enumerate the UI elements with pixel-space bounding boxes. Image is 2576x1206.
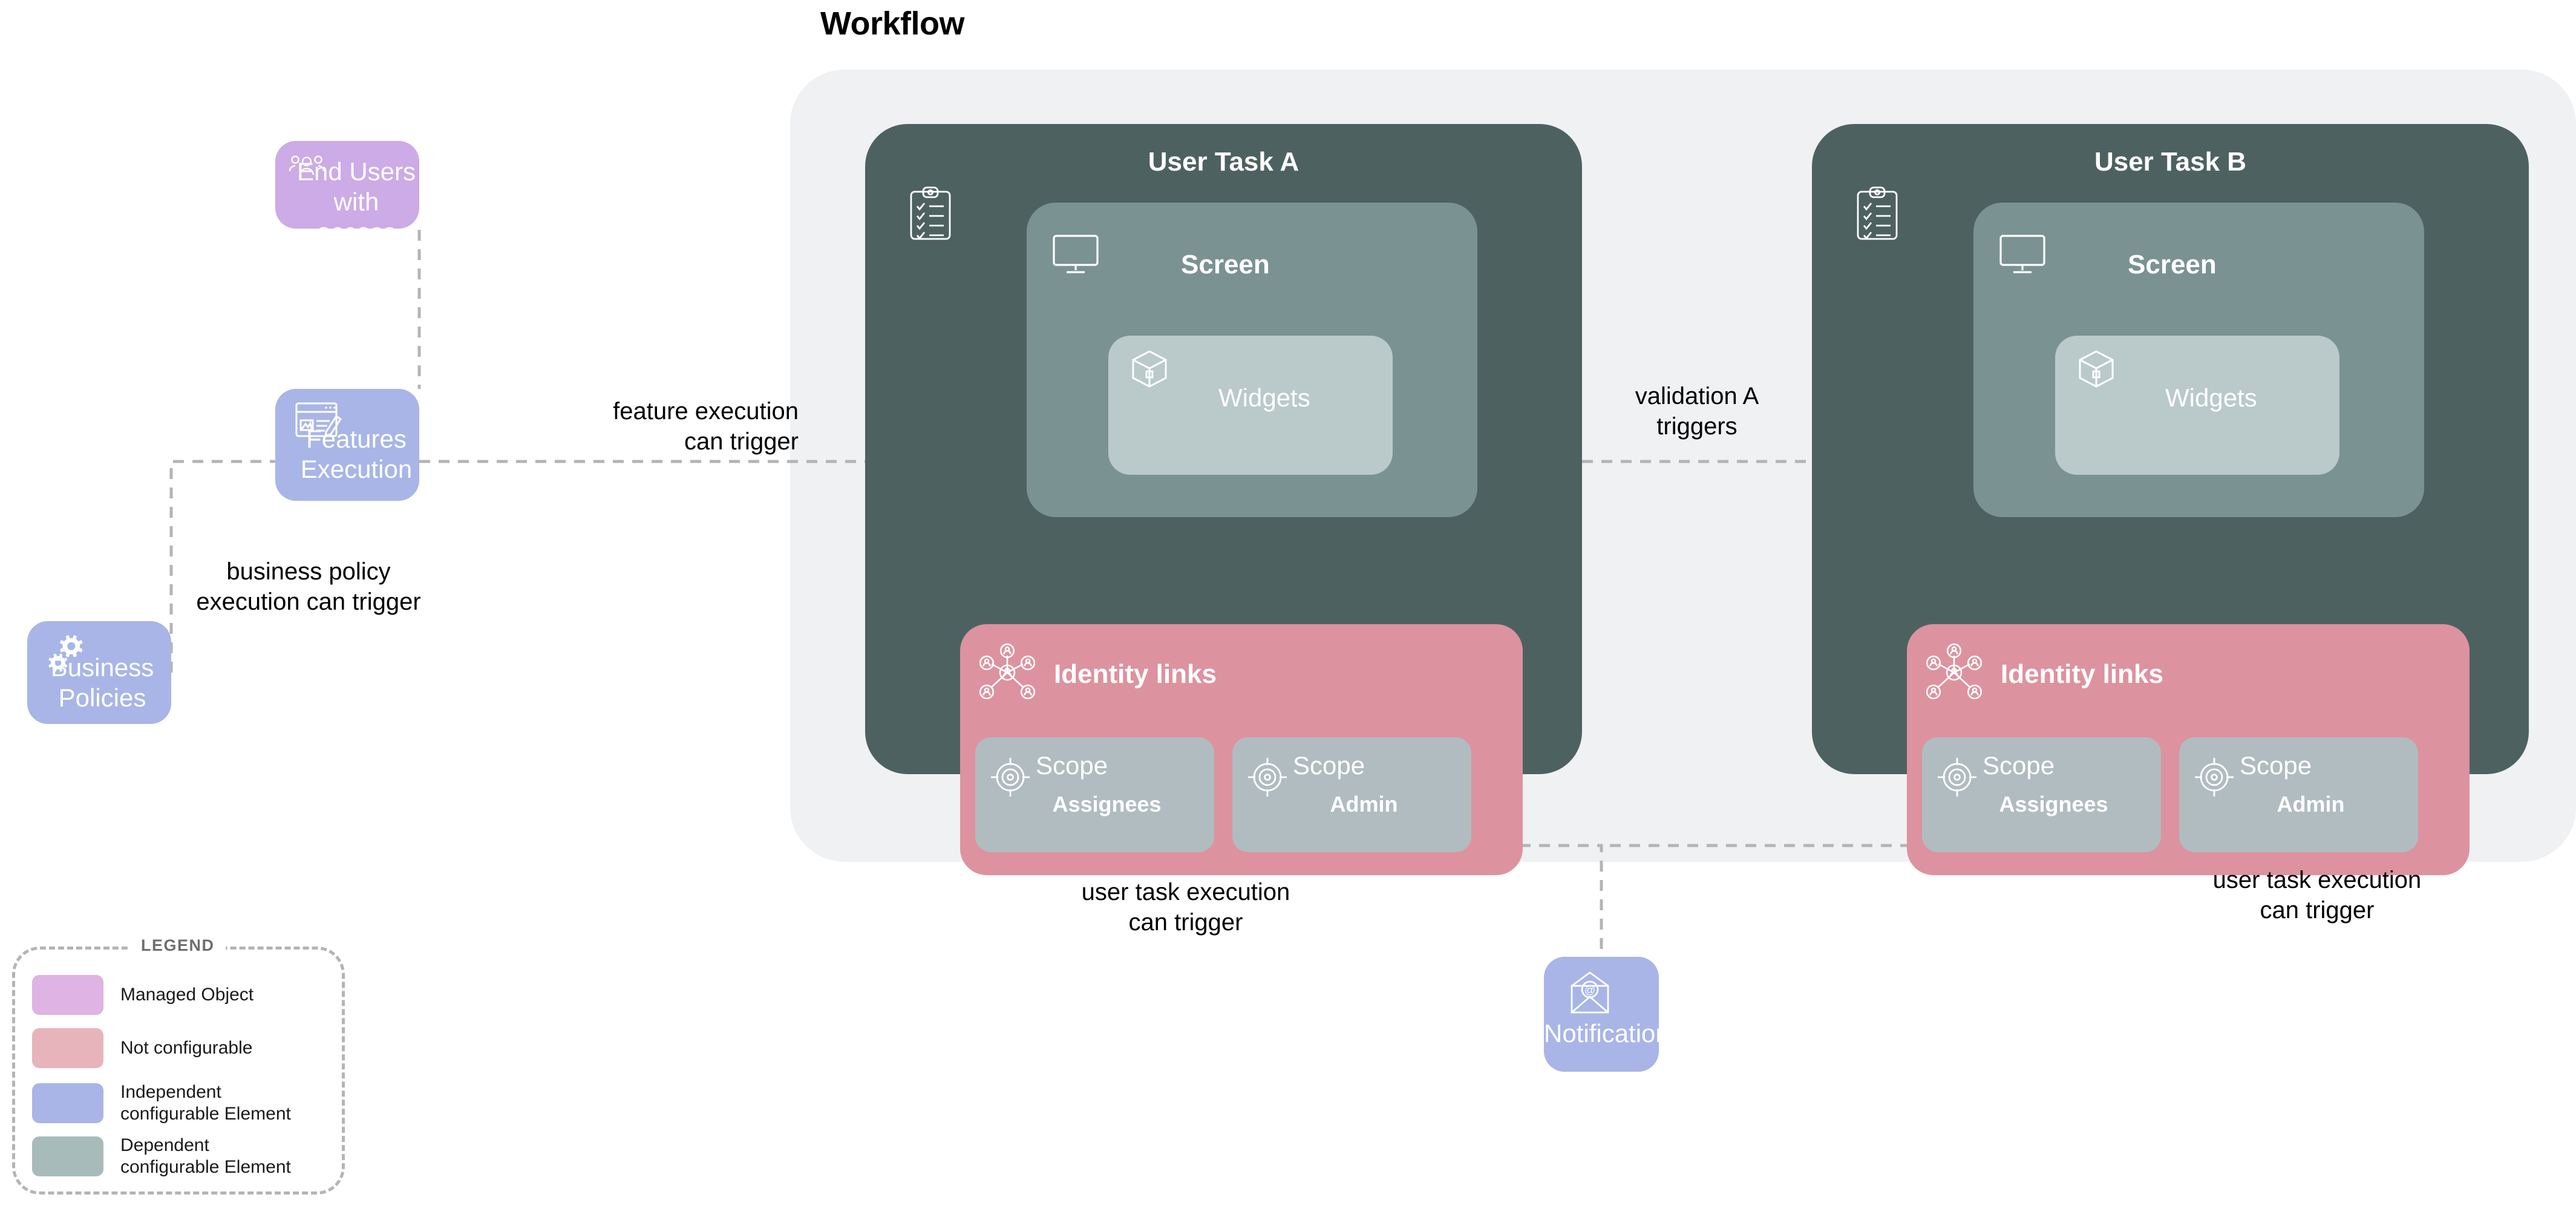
features-execution-node[interactable]: Features Execution bbox=[275, 389, 419, 501]
legend-label-independent-configurable: Independent configurable Element bbox=[120, 1081, 291, 1125]
screen-label-a: Screen bbox=[1181, 250, 1270, 280]
end-users-label: End Users with access to feature bbox=[275, 157, 419, 278]
widgets-label-a: Widgets bbox=[1218, 383, 1310, 412]
identity-links-label-b: Identity links bbox=[2001, 659, 2163, 689]
legend-label-dependent-configurable: Dependent configurable Element bbox=[120, 1135, 291, 1178]
widgets-label-b: Widgets bbox=[2165, 383, 2257, 412]
screen-box-a[interactable]: Screen Widgets bbox=[1027, 203, 1477, 517]
user-task-a-title: User Task A bbox=[865, 147, 1582, 177]
monitor-icon bbox=[1052, 234, 1099, 278]
label-user-task-a-exec: user task execution can trigger bbox=[1044, 877, 1328, 937]
scope-sub-b-assignees: Assignees bbox=[1922, 792, 2161, 817]
clipboard-checklist-icon bbox=[909, 186, 952, 244]
legend-item-managed-object: Managed Object bbox=[32, 975, 253, 1015]
legend-swatch-managed-object bbox=[32, 975, 103, 1015]
scope-admin-box-b[interactable]: Scope Admin bbox=[2179, 737, 2418, 852]
identity-links-box-b[interactable]: Identity links Scope Assignees Scop bbox=[1907, 624, 2470, 875]
box-package-icon bbox=[2076, 349, 2116, 393]
legend-swatch-dependent-configurable bbox=[32, 1136, 103, 1176]
legend: LEGEND Managed Object Not configurable I… bbox=[12, 947, 345, 1195]
svg-text:@: @ bbox=[1584, 984, 1595, 996]
legend-swatch-independent-configurable bbox=[32, 1083, 103, 1123]
user-task-b-card[interactable]: User Task B Screen bbox=[1812, 124, 2529, 774]
scope-title-b-admin: Scope bbox=[2240, 751, 2312, 780]
box-package-icon bbox=[1129, 349, 1169, 393]
business-policies-label: Business Policies bbox=[27, 653, 171, 713]
end-users-node[interactable]: End Users with access to feature bbox=[275, 141, 419, 229]
label-feature-execution: feature execution can trigger bbox=[557, 396, 799, 457]
label-user-task-b-exec: user task execution can trigger bbox=[2178, 865, 2456, 925]
label-business-policy: business policy execution can trigger bbox=[163, 556, 454, 617]
widgets-box-a[interactable]: Widgets bbox=[1108, 336, 1393, 475]
legend-item-independent-configurable: Independent configurable Element bbox=[32, 1081, 291, 1125]
widgets-box-b[interactable]: Widgets bbox=[2055, 336, 2339, 475]
scope-admin-box-a[interactable]: Scope Admin bbox=[1232, 737, 1471, 852]
scope-sub-b-admin: Admin bbox=[2179, 792, 2418, 817]
user-task-a-card[interactable]: User Task A Screen bbox=[865, 124, 1582, 774]
identity-network-icon bbox=[1920, 639, 1988, 709]
notifications-label: Notifications bbox=[1544, 1019, 1659, 1049]
scope-title-a-admin: Scope bbox=[1293, 751, 1365, 780]
scope-assignees-box-a[interactable]: Scope Assignees bbox=[975, 737, 1214, 852]
identity-links-box-a[interactable]: Identity links Scope Assignees Scop bbox=[960, 624, 1523, 875]
legend-label-managed-object: Managed Object bbox=[120, 984, 253, 1006]
scope-title-a-assignees: Scope bbox=[1036, 751, 1108, 780]
legend-label-not-configurable: Not configurable bbox=[120, 1037, 252, 1059]
scope-assignees-box-b[interactable]: Scope Assignees bbox=[1922, 737, 2161, 852]
identity-links-label-a: Identity links bbox=[1054, 659, 1217, 689]
scope-title-b-assignees: Scope bbox=[1983, 751, 2055, 780]
identity-network-icon bbox=[973, 639, 1041, 709]
scope-sub-a-assignees: Assignees bbox=[975, 792, 1214, 817]
monitor-icon bbox=[1999, 234, 2046, 278]
notifications-node[interactable]: @ Notifications bbox=[1544, 957, 1659, 1072]
envelope-at-icon: @ bbox=[1567, 970, 1613, 1019]
features-execution-label: Features Execution bbox=[275, 424, 419, 484]
screen-label-b: Screen bbox=[2128, 250, 2217, 280]
legend-item-dependent-configurable: Dependent configurable Element bbox=[32, 1135, 291, 1178]
label-validation-a: validation A triggers bbox=[1591, 381, 1803, 442]
legend-swatch-not-configurable bbox=[32, 1028, 103, 1068]
legend-item-not-configurable: Not configurable bbox=[32, 1028, 252, 1068]
user-task-b-title: User Task B bbox=[1812, 147, 2529, 177]
scope-sub-a-admin: Admin bbox=[1232, 792, 1471, 817]
legend-title: LEGEND bbox=[130, 936, 226, 955]
clipboard-checklist-icon bbox=[1855, 186, 1899, 244]
business-policies-node[interactable]: Business Policies bbox=[27, 621, 171, 724]
page-title: Workflow bbox=[820, 5, 964, 42]
screen-box-b[interactable]: Screen Widgets bbox=[1973, 203, 2424, 517]
